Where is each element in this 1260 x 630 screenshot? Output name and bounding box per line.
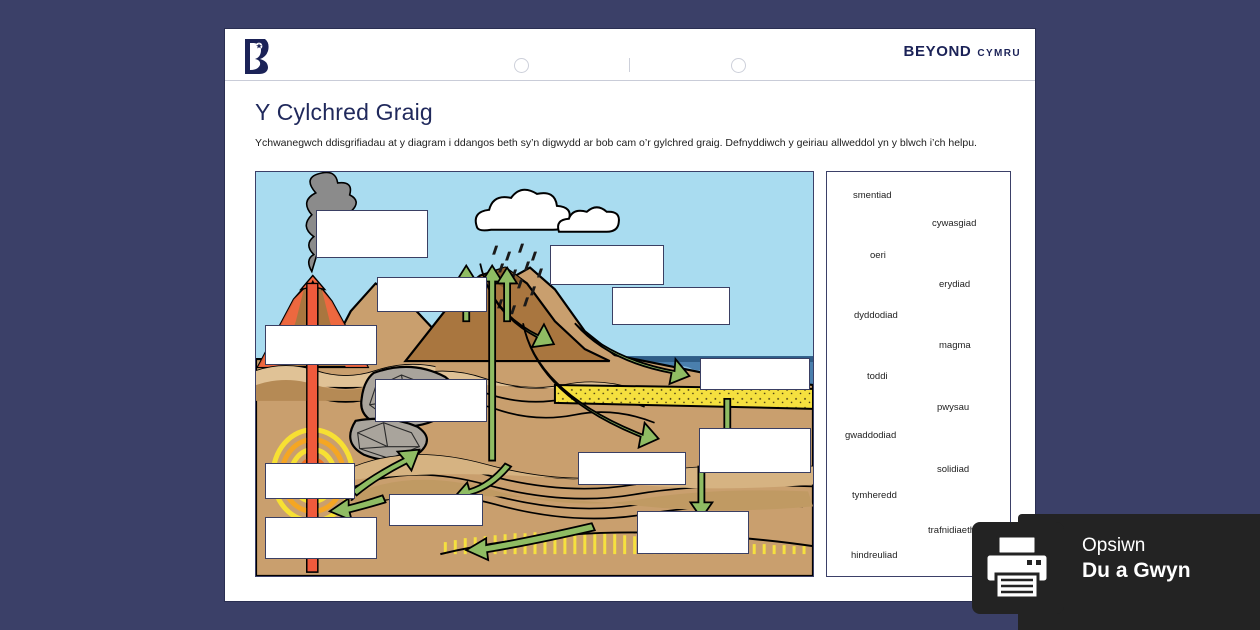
worksheet-header: BEYOND CYMRU bbox=[225, 29, 1035, 81]
box-rain[interactable] bbox=[550, 245, 664, 285]
keyword[interactable]: cywasgiad bbox=[932, 218, 976, 229]
keyword-word-bank: smentiad cywasgiad oeri erydiad dyddodia… bbox=[826, 171, 1011, 577]
keyword[interactable]: pwysau bbox=[937, 402, 969, 413]
box-transport[interactable] bbox=[612, 287, 730, 325]
fold-tick-icon bbox=[629, 58, 630, 72]
box-burial[interactable] bbox=[699, 428, 811, 473]
box-sea-deposit[interactable] bbox=[700, 358, 810, 390]
box-mountain[interactable] bbox=[377, 277, 487, 312]
keyword[interactable]: hindreuliad bbox=[851, 550, 897, 561]
punch-hole-icon bbox=[514, 58, 529, 73]
worksheet-page: BEYOND CYMRU Y Cylchred Graig Ychwanegwc… bbox=[224, 28, 1036, 602]
box-metamorphic[interactable] bbox=[375, 379, 487, 422]
page-subtitle: Ychwanegwch ddisgrifiadau at y diagram i… bbox=[255, 136, 1015, 150]
box-sedimentary[interactable] bbox=[637, 511, 749, 554]
keyword[interactable]: trafnidiaeth bbox=[928, 525, 975, 536]
keyword[interactable]: toddi bbox=[867, 371, 888, 382]
keyword[interactable]: magma bbox=[939, 340, 971, 351]
punch-hole-icon bbox=[731, 58, 746, 73]
beyond-b-logo-icon bbox=[239, 37, 273, 75]
keyword[interactable]: solidiad bbox=[937, 464, 969, 475]
keyword[interactable]: gwaddodiad bbox=[845, 430, 896, 441]
print-option-text: Opsiwn Du a Gwyn bbox=[1082, 534, 1191, 584]
brand-beyond-text: BEYOND bbox=[904, 43, 972, 60]
box-mantle[interactable] bbox=[265, 517, 377, 559]
brand-cymru-text: CYMRU bbox=[977, 48, 1021, 59]
box-melting[interactable] bbox=[389, 494, 483, 526]
print-option-overlay[interactable]: Opsiwn Du a Gwyn bbox=[1018, 514, 1260, 630]
page-title: Y Cylchred Graig bbox=[255, 99, 433, 126]
print-option-label: Opsiwn bbox=[1082, 534, 1191, 558]
box-magma-chamber[interactable] bbox=[265, 463, 355, 499]
rock-cycle-diagram bbox=[255, 171, 814, 577]
keyword[interactable]: erydiad bbox=[939, 279, 970, 290]
printer-icon bbox=[980, 532, 1054, 602]
box-volcano-base[interactable] bbox=[265, 325, 377, 365]
keyword[interactable]: dyddodiad bbox=[854, 310, 898, 321]
keyword[interactable]: tymheredd bbox=[852, 490, 897, 501]
keyword[interactable]: smentiad bbox=[853, 190, 892, 201]
box-compaction[interactable] bbox=[578, 452, 686, 485]
box-eruption[interactable] bbox=[316, 210, 428, 258]
brand-wordmark: BEYOND CYMRU bbox=[904, 43, 1021, 60]
print-option-value: Du a Gwyn bbox=[1082, 558, 1191, 584]
keyword[interactable]: oeri bbox=[870, 250, 886, 261]
